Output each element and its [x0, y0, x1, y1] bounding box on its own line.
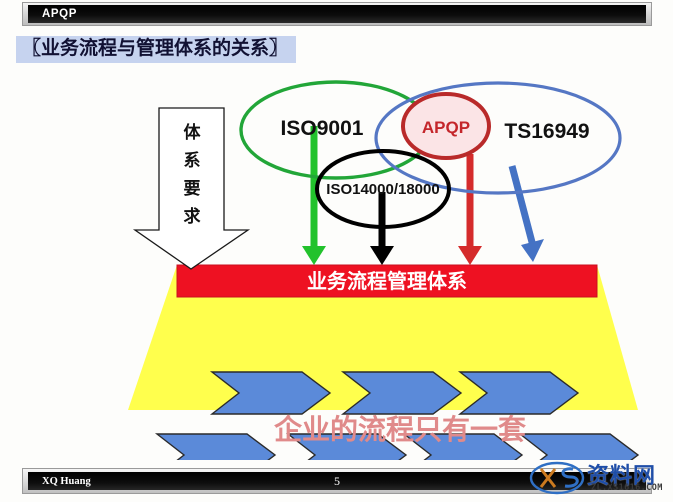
label-iso9001: ISO9001 — [281, 117, 364, 140]
banner-label: 业务流程管理体系 — [307, 269, 467, 293]
blue-arrow — [512, 166, 544, 262]
chevron — [157, 434, 275, 460]
diagram-caption: 企业的流程只有一套 — [274, 413, 527, 446]
slide-footer-bar: XQ Huang 5 — [22, 468, 652, 494]
footer-bar-inner: XQ Huang 5 — [28, 472, 646, 490]
title-bar-inner: APQP — [28, 5, 646, 23]
red-arrow — [458, 154, 482, 265]
label-iso14000-18000: ISO14000/18000 — [326, 181, 439, 198]
label-apqp: APQP — [422, 118, 470, 137]
footer-page-number: 5 — [334, 474, 340, 489]
chevron-row-1 — [212, 372, 578, 414]
system-requirement-label-char: 体 — [184, 122, 202, 143]
green-arrow — [302, 126, 326, 265]
system-requirement-label-char: 系 — [184, 151, 201, 171]
chevron — [520, 434, 638, 460]
slide-canvas: APQP 〖业务流程与管理体系的关系〗 业务流程管理体系 — [0, 0, 673, 502]
footer-author: XQ Huang — [42, 476, 91, 487]
slide-title-label: APQP — [42, 8, 77, 20]
system-requirement-label-char: 要 — [184, 179, 201, 199]
slide-title-bar: APQP — [22, 2, 652, 26]
label-ts16949: TS16949 — [504, 120, 589, 143]
system-requirement-label-char: 求 — [184, 206, 201, 227]
page-title: 〖业务流程与管理体系的关系〗 — [16, 36, 296, 63]
relationship-diagram: 业务流程管理体系 体 系 要 求 — [0, 62, 673, 460]
